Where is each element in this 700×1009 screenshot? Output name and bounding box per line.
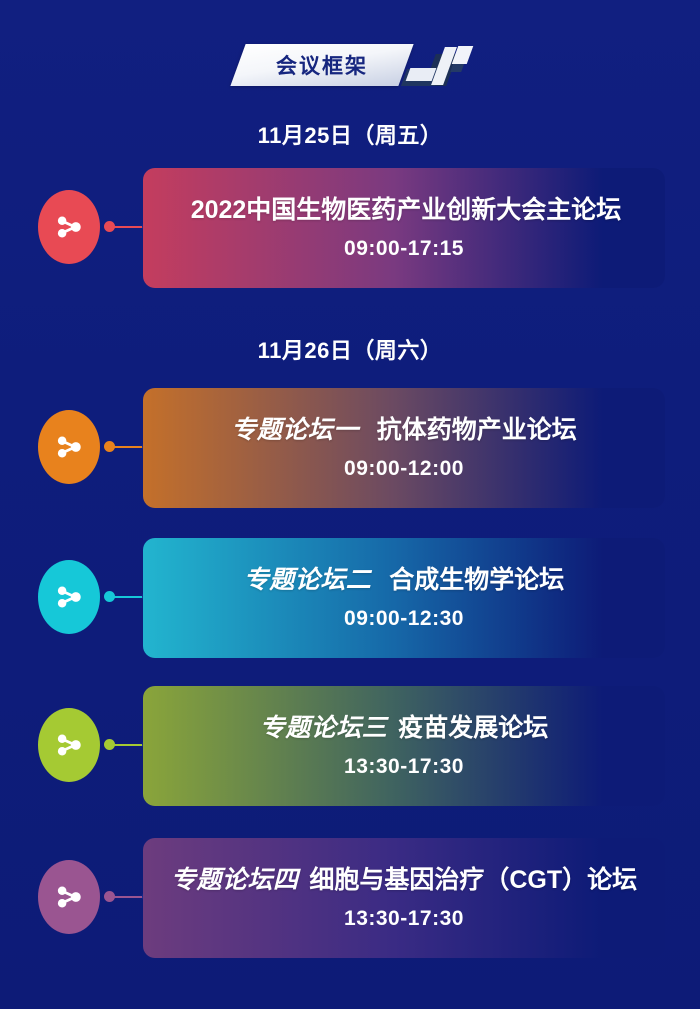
banner-slash-decor-1: [406, 68, 437, 81]
session-title: 合成生物学论坛: [389, 566, 564, 594]
session-index-label: 专题论坛一: [231, 416, 359, 444]
session-title-line: 专题论坛二 合成生物学论坛: [244, 567, 564, 595]
session-title-line: 专题论坛四 细胞与基因治疗（CGT）论坛: [171, 867, 637, 895]
session-badge: [38, 708, 100, 782]
poster-background: 会议框架 11月25日（周五） 11月26日（周六） 2022中国生物医药产业创…: [0, 0, 700, 1009]
session-badge: [38, 860, 100, 934]
share-nodes-icon: [54, 882, 84, 912]
session-title: 疫苗发展论坛: [398, 714, 548, 742]
connector-dot-outer: [104, 591, 115, 602]
session-row[interactable]: 专题论坛二 合成生物学论坛 09:00-12:30: [0, 538, 700, 658]
connector-dot-outer: [104, 221, 115, 232]
session-index-label: 专题论坛二: [244, 566, 372, 594]
session-row[interactable]: 专题论坛三 疫苗发展论坛 13:30-17:30: [0, 686, 700, 806]
share-nodes-icon: [54, 212, 84, 242]
session-card[interactable]: 2022中国生物医药产业创新大会主论坛 09:00-17:15: [143, 168, 665, 288]
session-title-line: 专题论坛一 抗体药物产业论坛: [231, 417, 576, 445]
date-heading-1: 11月25日（周五）: [0, 118, 700, 150]
session-time: 09:00-12:00: [344, 457, 464, 481]
connector-dot-outer: [104, 891, 115, 902]
section-banner: 会议框架: [0, 44, 700, 100]
session-card[interactable]: 专题论坛三 疫苗发展论坛 13:30-17:30: [143, 686, 665, 806]
share-nodes-icon: [54, 432, 84, 462]
session-title: 2022中国生物医药产业创新大会主论坛: [191, 196, 622, 224]
session-title: 抗体药物产业论坛: [377, 416, 577, 444]
session-time: 09:00-12:30: [344, 607, 464, 631]
session-card[interactable]: 专题论坛二 合成生物学论坛 09:00-12:30: [143, 538, 665, 658]
session-index-label: 专题论坛四: [171, 866, 299, 894]
connector-dot-outer: [104, 739, 115, 750]
session-row[interactable]: 专题论坛一 抗体药物产业论坛 09:00-12:00: [0, 388, 700, 508]
session-time: 13:30-17:30: [344, 907, 464, 931]
session-time: 09:00-17:15: [344, 237, 464, 261]
date-heading-2: 11月26日（周六）: [0, 333, 700, 365]
session-row[interactable]: 2022中国生物医药产业创新大会主论坛 09:00-17:15: [0, 168, 700, 288]
session-title-line: 专题论坛三 疫苗发展论坛: [260, 715, 548, 743]
share-nodes-icon: [54, 730, 84, 760]
session-badge: [38, 560, 100, 634]
session-index-label: 专题论坛三: [260, 714, 388, 742]
session-badge: [38, 190, 100, 264]
banner-title: 会议框架: [238, 44, 406, 86]
share-nodes-icon: [54, 582, 84, 612]
connector-dot-outer: [104, 441, 115, 452]
session-row[interactable]: 专题论坛四 细胞与基因治疗（CGT）论坛 13:30-17:30: [0, 838, 700, 958]
session-card[interactable]: 专题论坛四 细胞与基因治疗（CGT）论坛 13:30-17:30: [143, 838, 665, 958]
session-badge: [38, 410, 100, 484]
session-card[interactable]: 专题论坛一 抗体药物产业论坛 09:00-12:00: [143, 388, 665, 508]
session-title-line: 2022中国生物医药产业创新大会主论坛: [187, 197, 622, 225]
session-title: 细胞与基因治疗（CGT）论坛: [309, 866, 637, 894]
session-time: 13:30-17:30: [344, 755, 464, 779]
